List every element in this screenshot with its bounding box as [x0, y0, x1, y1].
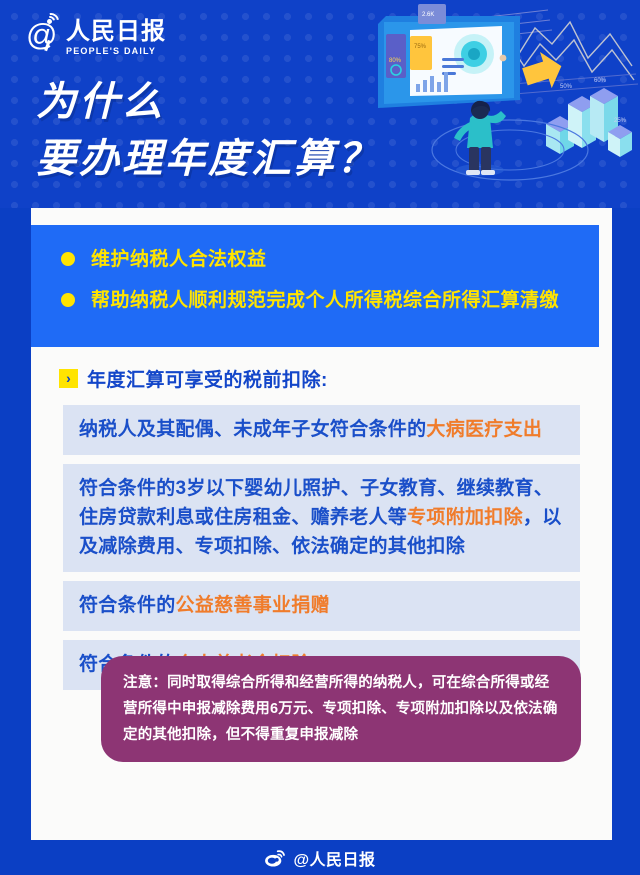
svg-text:50%: 50% [560, 84, 573, 90]
plain-text: 纳税人及其配偶、未成年子女符合条件的 [79, 419, 426, 440]
footer-bar: @人民日报 [0, 840, 640, 875]
deduction-card-list: 纳税人及其配偶、未成年子女符合条件的大病医疗支出符合条件的3岁以下婴幼儿照护、子… [63, 405, 580, 699]
title-line-2: 要办理年度汇算？ [36, 131, 380, 188]
benefit-text: 帮助纳税人顺利规范完成个人所得税综合所得汇算清缴 [91, 286, 559, 315]
logo-name-cn: 人民日报 [66, 19, 166, 45]
title-line-1: 为什么 [36, 74, 380, 131]
note-text: 注意：同时取得综合所得和经营所得的纳税人，可在综合所得或经营所得中申报减除费用6… [123, 670, 561, 748]
footer-handle: @人民日报 [293, 846, 375, 870]
svg-text:2.6K: 2.6K [422, 12, 434, 18]
highlighted-term: 专项附加扣除 [407, 507, 523, 528]
plain-text: 符合条件的 [79, 595, 176, 616]
chevron-right-icon: › [59, 369, 78, 388]
list-item: 帮助纳税人顺利规范完成个人所得税综合所得汇算清缴 [49, 286, 581, 315]
bullet-dot-icon [61, 293, 75, 307]
deduction-card: 符合条件的3岁以下婴幼儿照护、子女教育、继续教育、住房贷款利息或住房租金、赡养老… [63, 464, 580, 572]
highlighted-term: 大病医疗支出 [426, 419, 542, 440]
svg-text:60%: 60% [594, 78, 607, 84]
svg-text:25%: 25% [614, 118, 627, 124]
bullet-dot-icon [61, 252, 75, 266]
svg-text:75%: 75% [414, 44, 427, 50]
peoples-daily-logo: @ 人民日报 PEOPLE'S DAILY [26, 18, 166, 57]
at-wifi-icon: @ [26, 18, 60, 52]
highlighted-term: 公益慈善事业捐赠 [176, 595, 330, 616]
benefits-box: 维护纳税人合法权益 帮助纳税人顺利规范完成个人所得税综合所得汇算清缴 [31, 225, 599, 347]
section-heading: › 年度汇算可享受的税前扣除: [59, 365, 328, 392]
deduction-card-text: 符合条件的公益慈善事业捐赠 [79, 591, 564, 620]
note-callout: 注意：同时取得综合所得和经营所得的纳税人，可在综合所得或经营所得中申报减除费用6… [101, 656, 581, 762]
list-item: 维护纳税人合法权益 [49, 245, 581, 274]
deduction-card-text: 纳税人及其配偶、未成年子女符合条件的大病医疗支出 [79, 415, 564, 444]
deduction-card-text: 符合条件的3岁以下婴幼儿照护、子女教育、继续教育、住房贷款利息或住房租金、赡养老… [79, 474, 564, 561]
svg-text:80%: 80% [389, 58, 402, 64]
weibo-icon [264, 849, 286, 867]
benefit-text: 维护纳税人合法权益 [91, 245, 267, 274]
page-title: 为什么 要办理年度汇算？ [36, 74, 380, 188]
hero-illustration: 80% 75% 2.6K [370, 0, 640, 208]
section-title: 年度汇算可享受的税前扣除: [87, 365, 328, 392]
deduction-card: 纳税人及其配偶、未成年子女符合条件的大病医疗支出 [63, 405, 580, 455]
logo-name-en: PEOPLE'S DAILY [66, 45, 166, 57]
deduction-card: 符合条件的公益慈善事业捐赠 [63, 581, 580, 631]
content-panel: 维护纳税人合法权益 帮助纳税人顺利规范完成个人所得税综合所得汇算清缴 › 年度汇… [31, 208, 612, 840]
header-banner: 80% 75% 2.6K [0, 0, 640, 208]
